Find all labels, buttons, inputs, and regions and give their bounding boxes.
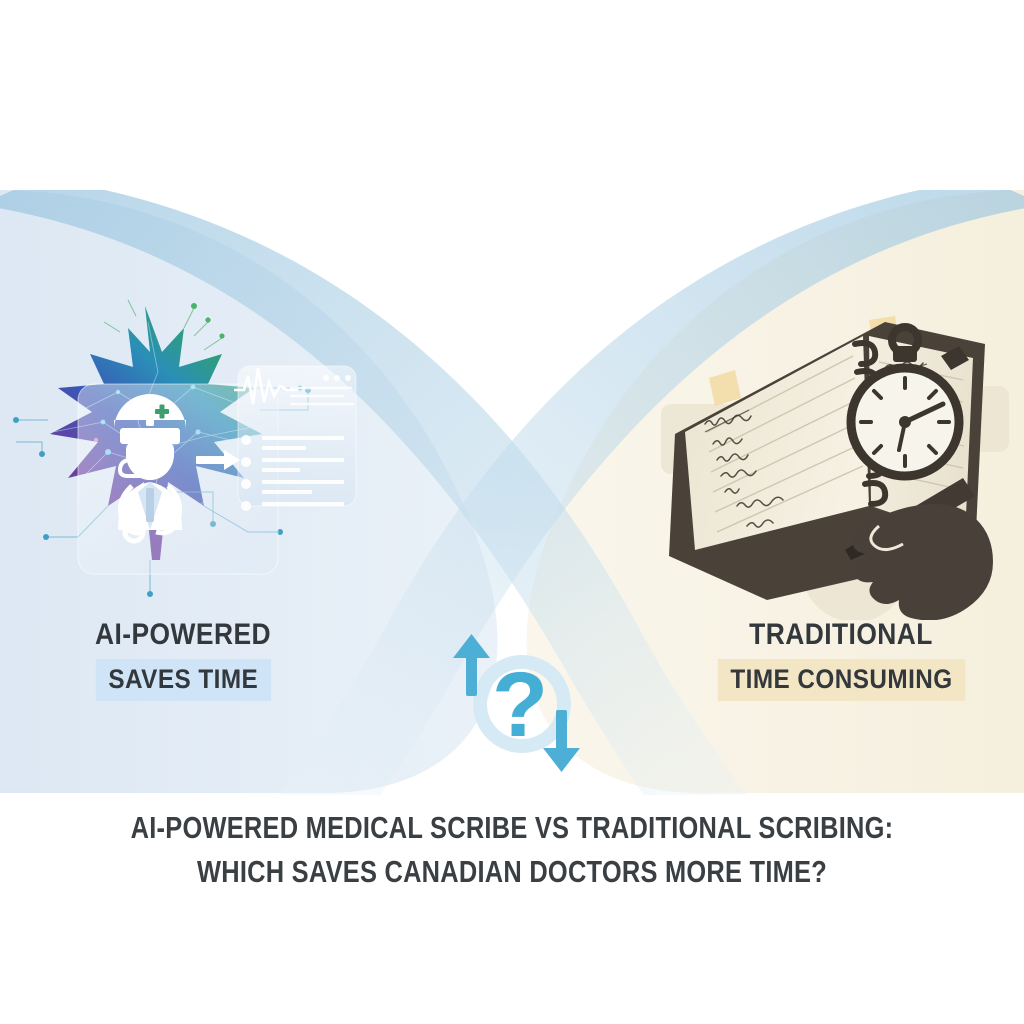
title-line-1: AI-POWERED MEDICAL SCRIBE VS TRADITIONAL… <box>92 806 932 850</box>
traditional-label-block: TRADITIONAL TIME CONSUMING <box>666 620 1016 701</box>
traditional-heading: TRADITIONAL <box>687 620 995 650</box>
ai-powered-label-block: AI-POWERED SAVES TIME <box>8 620 358 701</box>
ai-powered-heading: AI-POWERED <box>29 620 337 650</box>
time-consuming-badge: TIME CONSUMING <box>717 659 965 701</box>
circuit-stems-top <box>104 300 222 350</box>
comparison-indicator: ? <box>448 628 588 778</box>
saves-time-badge: SAVES TIME <box>95 659 270 701</box>
infographic-canvas: AI-POWERED SAVES TIME TRADITIONAL TIME C… <box>0 0 1024 1024</box>
necktie <box>146 488 154 522</box>
title-line-2: WHICH SAVES CANADIAN DOCTORS MORE TIME? <box>92 850 932 894</box>
question-mark-glyph: ? <box>492 654 548 756</box>
ai-maple-leaf-illustration <box>8 292 368 610</box>
window-dots <box>323 375 351 381</box>
notebook-stopwatch-illustration <box>655 300 1024 620</box>
page-title: AI-POWERED MEDICAL SCRIBE VS TRADITIONAL… <box>0 806 1024 894</box>
